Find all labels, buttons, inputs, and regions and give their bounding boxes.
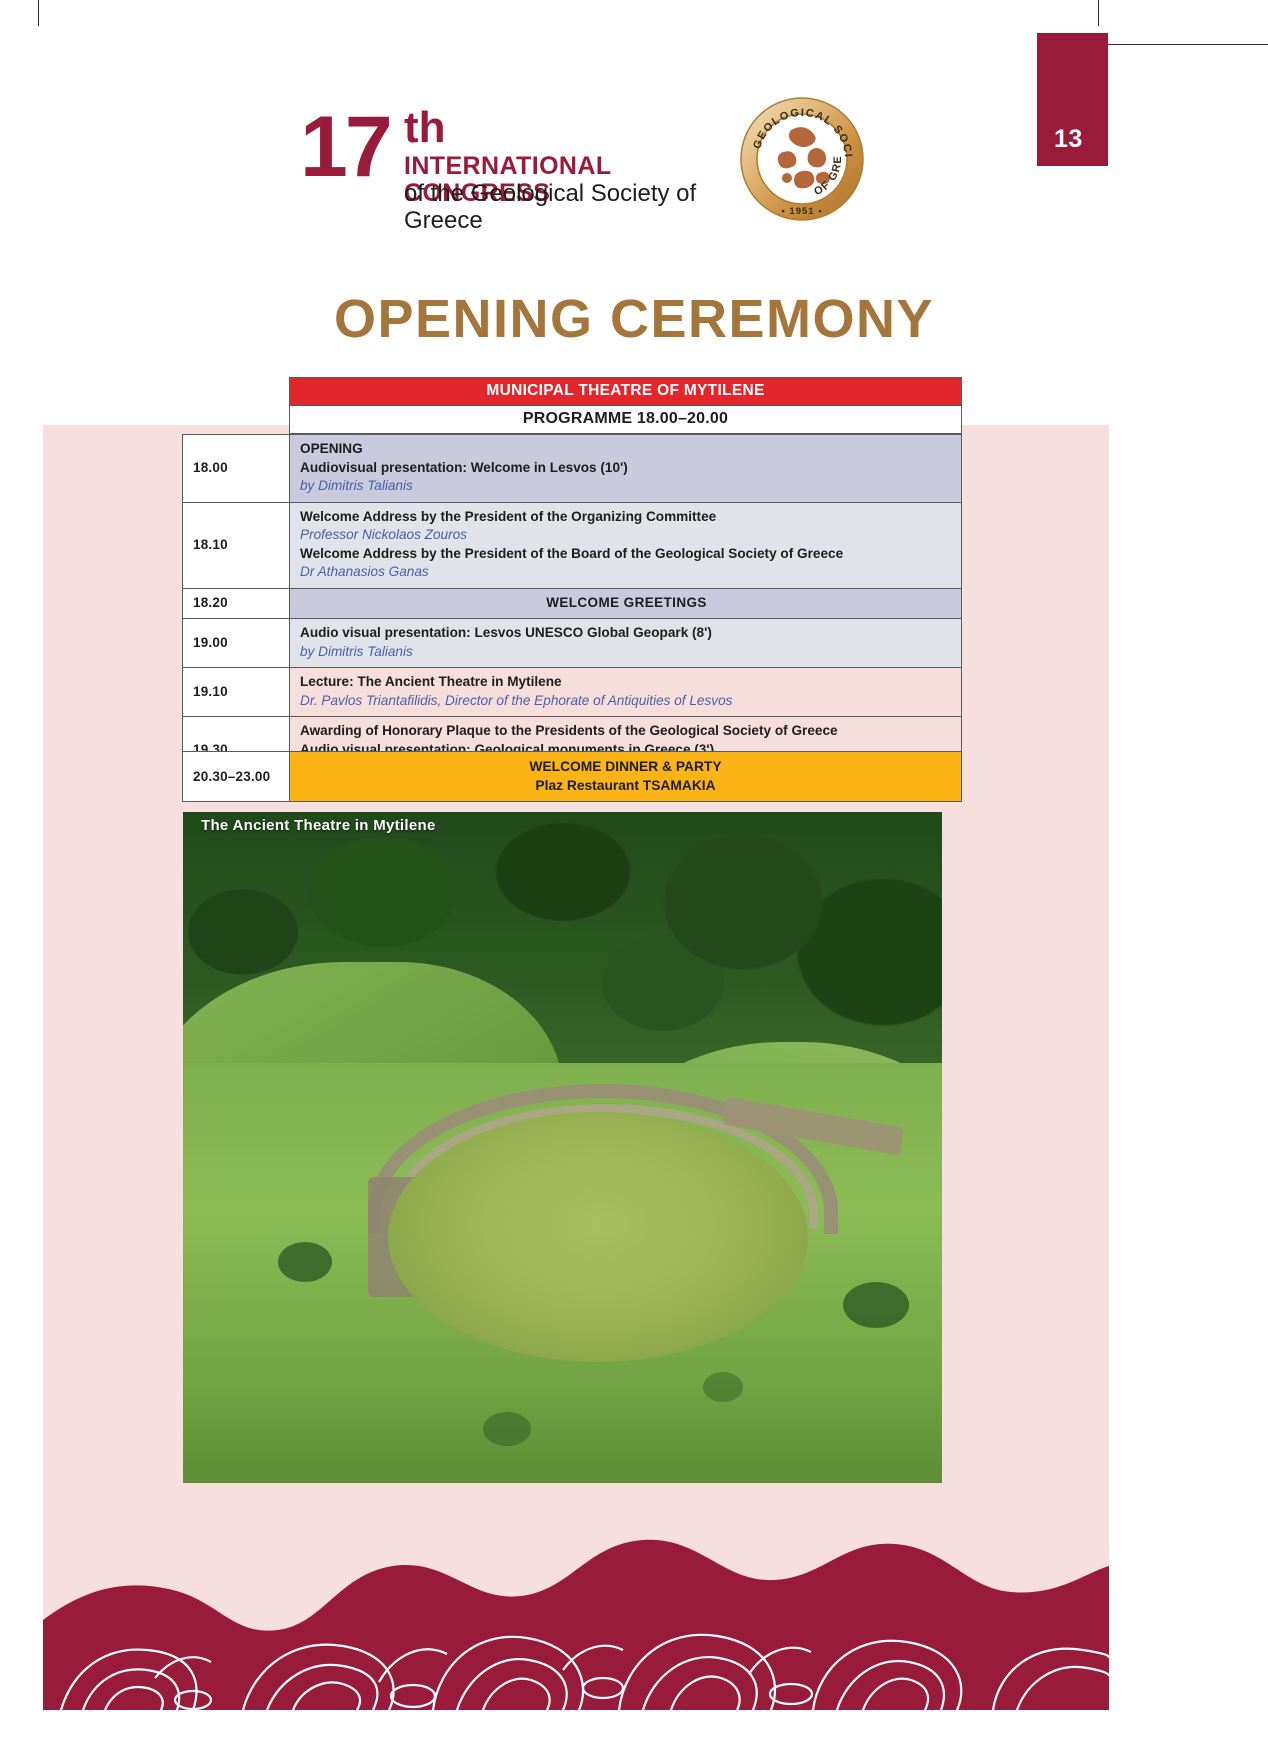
table-row: 18.10Welcome Address by the President of… — [183, 502, 962, 588]
venue-header: MUNICIPAL THEATRE OF MYTILENE — [289, 377, 962, 405]
row-detail: Lecture: The Ancient Theatre in Mytilene… — [290, 668, 962, 717]
row-time: 19.10 — [183, 668, 290, 717]
row-presenter: Dr. Pavlos Triantafilidis, Director of t… — [300, 692, 953, 711]
dinner-title: WELCOME DINNER & PARTY — [290, 757, 961, 776]
row-line: Audiovisual presentation: Welcome in Les… — [300, 459, 953, 478]
row-detail: Welcome Address by the President of the … — [290, 502, 962, 588]
crop-mark-right-upper — [1108, 44, 1268, 45]
row-line: WELCOME GREETINGS — [300, 594, 953, 613]
table-row: 18.00OPENINGAudiovisual presentation: We… — [183, 435, 962, 503]
welcome-dinner-table: 20.30–23.00 WELCOME DINNER & PARTY Plaz … — [182, 751, 962, 802]
page-number: 13 — [1054, 125, 1083, 154]
page-title: OPENING CEREMONY — [0, 288, 1268, 350]
geological-society-seal-icon: GEOLOGICAL SOCIETY OF GREECE • 1951 • — [739, 96, 865, 222]
row-line: Lecture: The Ancient Theatre in Mytilene — [300, 673, 953, 692]
photo-caption: The Ancient Theatre in Mytilene — [201, 817, 436, 834]
crop-mark-top-right — [1098, 0, 1099, 26]
row-line: Welcome Address by the President of the … — [300, 545, 953, 564]
row-time: 18.00 — [183, 435, 290, 503]
contour-decoration — [43, 1470, 1109, 1710]
row-line: Welcome Address by the President of the … — [300, 508, 953, 527]
page-number-tab: 13 — [1037, 33, 1108, 166]
logo-ordinal-suffix: th — [404, 106, 446, 150]
dinner-time: 20.30–23.00 — [183, 752, 290, 802]
programme-table: 18.00OPENINGAudiovisual presentation: We… — [182, 434, 962, 785]
row-time: 18.10 — [183, 502, 290, 588]
crop-mark-top-left — [38, 0, 39, 26]
programme-table-body: 18.00OPENINGAudiovisual presentation: We… — [183, 435, 962, 785]
programme-table-block: MUNICIPAL THEATRE OF MYTILENE PROGRAMME … — [182, 377, 962, 785]
row-line: Audio visual presentation: Lesvos UNESCO… — [300, 624, 953, 643]
welcome-dinner-block: 20.30–23.00 WELCOME DINNER & PARTY Plaz … — [182, 751, 962, 802]
row-presenter: by Dimitris Talianis — [300, 643, 953, 662]
row-time: 19.00 — [183, 619, 290, 668]
photo-theatre-orchestra — [388, 1112, 808, 1362]
svg-text:• 1951 •: • 1951 • — [781, 206, 822, 217]
congress-logo: 17 th INTERNATIONAL CONGRESS of the Geol… — [300, 98, 730, 214]
table-row: 19.00Audio visual presentation: Lesvos U… — [183, 619, 962, 668]
table-row: 20.30–23.00 WELCOME DINNER & PARTY Plaz … — [183, 752, 962, 802]
row-line: OPENING — [300, 440, 953, 459]
photo-shrub — [703, 1372, 743, 1402]
table-row: 18.20WELCOME GREETINGS — [183, 588, 962, 619]
row-detail: WELCOME GREETINGS — [290, 588, 962, 619]
table-row: 19.10Lecture: The Ancient Theatre in Myt… — [183, 668, 962, 717]
photo-shrub — [483, 1412, 531, 1446]
row-presenter: Dr Athanasios Ganas — [300, 563, 953, 582]
photo-shrub — [843, 1282, 909, 1328]
row-time: 18.20 — [183, 588, 290, 619]
row-presenter: Professor Nickolaos Zouros — [300, 526, 953, 545]
row-detail: Audio visual presentation: Lesvos UNESCO… — [290, 619, 962, 668]
programme-header: PROGRAMME 18.00–20.00 — [289, 405, 962, 434]
photo-shrub — [278, 1242, 332, 1282]
dinner-detail: WELCOME DINNER & PARTY Plaz Restaurant T… — [290, 752, 962, 802]
row-presenter: by Dimitris Talianis — [300, 477, 953, 496]
row-line: Awarding of Honorary Plaque to the Presi… — [300, 722, 953, 741]
row-detail: OPENINGAudiovisual presentation: Welcome… — [290, 435, 962, 503]
logo-edition-number: 17 — [300, 104, 390, 190]
theatre-photograph: The Ancient Theatre in Mytilene — [183, 812, 942, 1483]
logo-society-line: of the Geological Society of Greece — [404, 180, 730, 234]
dinner-venue: Plaz Restaurant TSAMAKIA — [290, 776, 961, 795]
